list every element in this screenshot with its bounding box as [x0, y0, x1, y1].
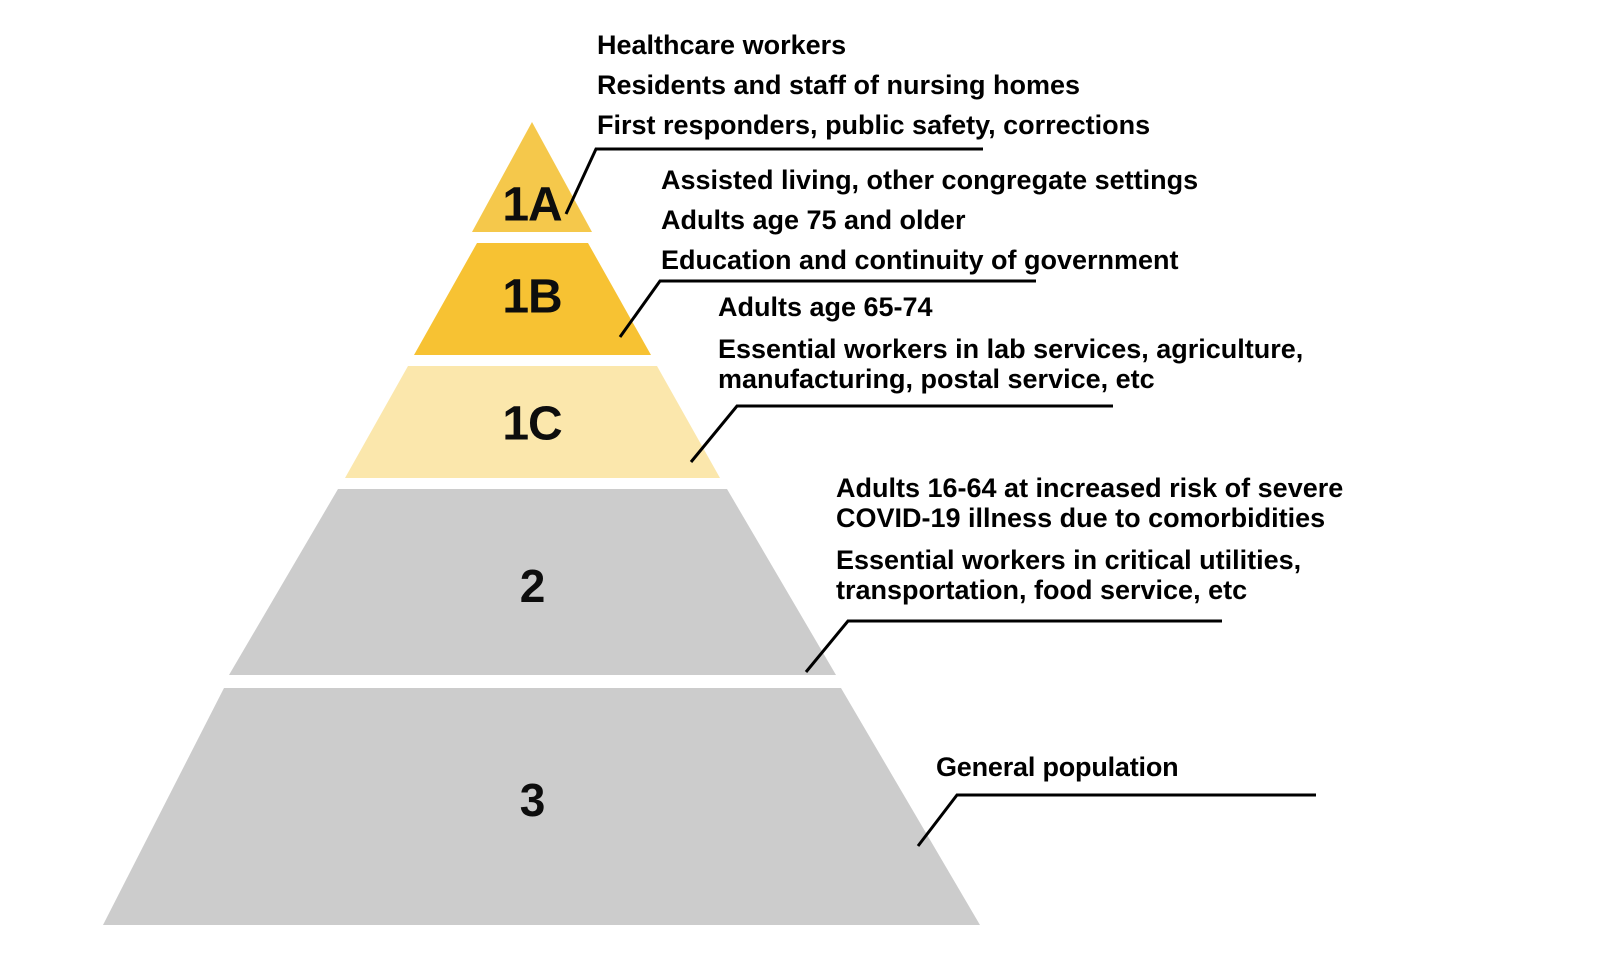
tier-label-3: 3	[520, 773, 545, 827]
annotation-1c-line-3: manufacturing, postal service, etc	[718, 364, 1155, 395]
leader-line-3	[918, 795, 1316, 846]
annotation-2-line-2: COVID-19 illness due to comorbidities	[836, 503, 1325, 534]
annotation-3-line-1: General population	[936, 752, 1178, 783]
annotation-2-line-1: Adults 16-64 at increased risk of severe	[836, 473, 1343, 504]
annotation-1c-line-2: Essential workers in lab services, agric…	[718, 334, 1303, 365]
annotation-1b-line-1: Assisted living, other congregate settin…	[661, 165, 1198, 196]
annotation-1b-line-3: Education and continuity of government	[661, 245, 1179, 276]
leader-line-2	[806, 621, 1222, 672]
annotation-2-line-3: Essential workers in critical utilities,	[836, 545, 1301, 576]
annotation-1b-line-2: Adults age 75 and older	[661, 205, 966, 236]
tier-label-2: 2	[520, 559, 545, 613]
tier-label-1b: 1B	[502, 270, 561, 325]
pyramid-graphic	[0, 0, 1600, 979]
annotation-2-line-4: transportation, food service, etc	[836, 575, 1247, 606]
annotation-1a-line-3: First responders, public safety, correct…	[597, 110, 1150, 141]
tier-label-1c: 1C	[502, 397, 561, 452]
leader-line-1c	[691, 406, 1113, 462]
annotation-1a-line-2: Residents and staff of nursing homes	[597, 70, 1080, 101]
annotation-1c-line-1: Adults age 65-74	[718, 292, 933, 323]
annotation-1a-line-1: Healthcare workers	[597, 30, 846, 61]
pyramid-diagram: 1A 1B 1C 2 3 Healthcare workers Resident…	[0, 0, 1600, 979]
tier-label-1a: 1A	[502, 178, 561, 233]
